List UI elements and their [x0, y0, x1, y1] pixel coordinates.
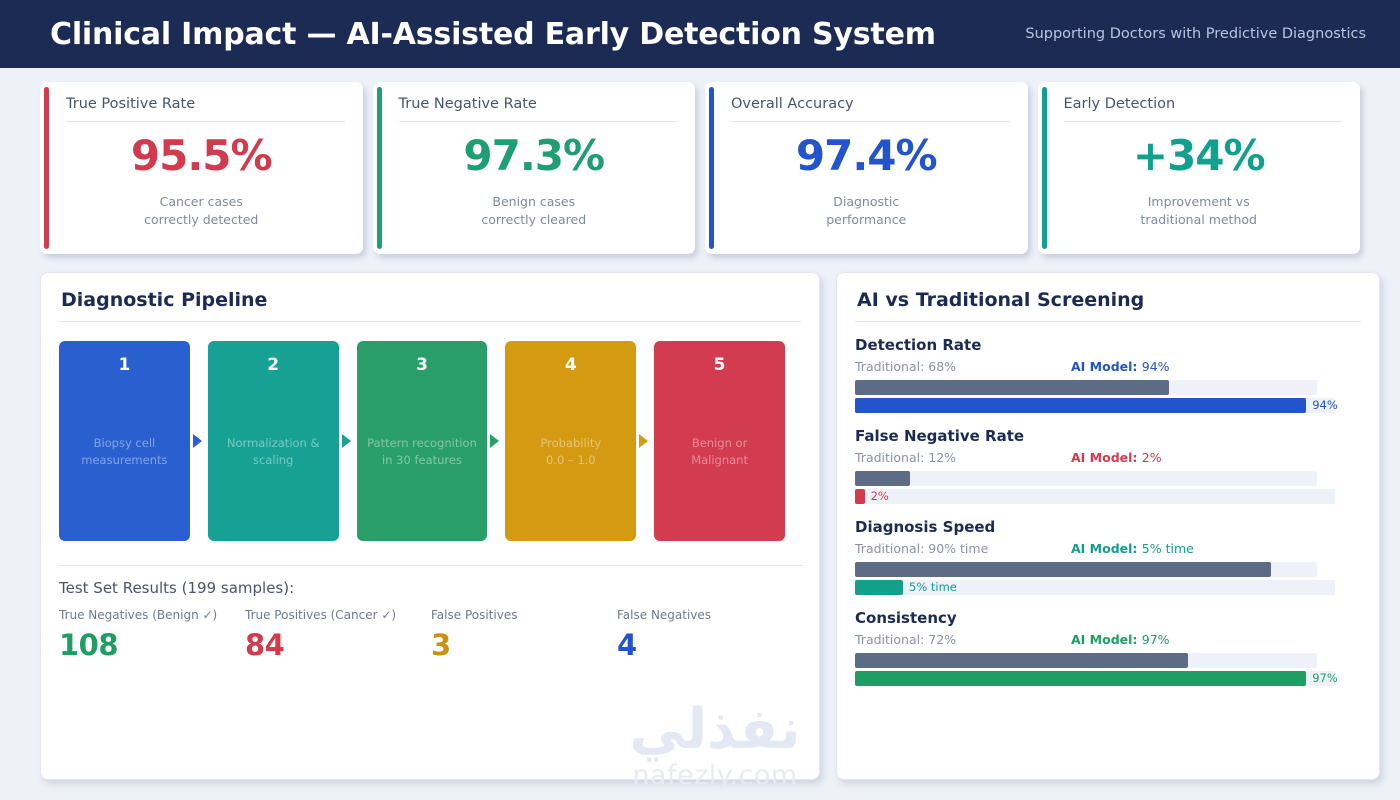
pipeline-stage[interactable]: 4Probability0.0 – 1.0 [505, 341, 636, 541]
pipeline-title-divider [59, 321, 801, 322]
kpi-description: Improvement vstraditional method [1056, 193, 1343, 229]
kpi-value: 97.3% [391, 131, 678, 180]
arrow-triangle [342, 434, 351, 448]
ai-bar-value-label: 97% [1306, 671, 1338, 686]
kpi-value: +34% [1056, 131, 1343, 180]
pipeline-stage-description: Probability0.0 – 1.0 [511, 435, 630, 468]
pipeline-stage[interactable]: 1Biopsy cellmeasurements [59, 341, 190, 541]
ai-bar-fill [855, 580, 903, 595]
pipeline-stage-number: 1 [118, 355, 130, 375]
arrow-triangle [193, 434, 202, 448]
result-item: False Positives3 [431, 608, 617, 662]
result-label: True Negatives (Benign ✓) [59, 608, 245, 622]
comparison-group: Detection RateTraditional: 68%AI Model: … [855, 336, 1351, 413]
traditional-bar-track [855, 380, 1317, 395]
ai-bar-track: 97% [855, 671, 1335, 686]
traditional-bar-fill [855, 380, 1169, 395]
result-value: 3 [431, 628, 617, 662]
kpi-accent-bar [44, 87, 49, 249]
pipeline-stage-number: 2 [267, 355, 279, 375]
comparison-group: False Negative RateTraditional: 12%AI Mo… [855, 427, 1351, 504]
ai-bar-track: 94% [855, 398, 1335, 413]
kpi-accent-bar [709, 87, 714, 249]
pipeline-stage[interactable]: 2Normalization &scaling [208, 341, 339, 541]
ai-bar-fill [855, 398, 1306, 413]
page-subtitle: Supporting Doctors with Predictive Diagn… [1025, 26, 1380, 42]
kpi-label: True Positive Rate [66, 96, 345, 122]
kpi-description: Diagnosticperformance [723, 193, 1010, 229]
pipeline-stage[interactable]: 5Benign orMalignant [654, 341, 785, 541]
pipeline-arrow-icon [339, 434, 357, 448]
pipeline-arrow-icon [487, 434, 505, 448]
ai-legend-value: 2% [1142, 450, 1162, 465]
ai-legend: AI Model: 2% [1071, 450, 1162, 465]
ai-bar-fill [855, 489, 865, 504]
traditional-bar-track [855, 562, 1317, 577]
comparison-group-title: False Negative Rate [855, 427, 1351, 445]
traditional-bar-track [855, 471, 1317, 486]
ai-bar-track: 2% [855, 489, 1335, 504]
traditional-legend: Traditional: 68% [855, 359, 956, 374]
kpi-description: Benign casescorrectly cleared [391, 193, 678, 229]
kpi-card: Overall Accuracy97.4%Diagnosticperforman… [705, 82, 1028, 254]
kpi-card: True Negative Rate97.3%Benign casescorre… [373, 82, 696, 254]
comparison-group-title: Consistency [855, 609, 1351, 627]
pipeline-stage-list: 1Biopsy cellmeasurements2Normalization &… [59, 341, 785, 541]
comparison-legend: Traditional: 72%AI Model: 97% [855, 632, 1351, 650]
result-item: False Negatives4 [617, 608, 803, 662]
traditional-legend: Traditional: 12% [855, 450, 956, 465]
ai-bar-fill [855, 671, 1306, 686]
result-label: True Positives (Cancer ✓) [245, 608, 431, 622]
result-item: True Positives (Cancer ✓)84 [245, 608, 431, 662]
ai-legend: AI Model: 94% [1071, 359, 1170, 374]
result-value: 4 [617, 628, 803, 662]
page-title: Clinical Impact — AI-Assisted Early Dete… [50, 17, 936, 52]
test-set-results-heading: Test Set Results (199 samples): [59, 579, 803, 597]
pipeline-panel-title: Diagnostic Pipeline [41, 273, 819, 321]
comparison-title-divider [855, 321, 1361, 322]
traditional-legend: Traditional: 90% time [855, 541, 988, 556]
test-set-results-grid: True Negatives (Benign ✓)108True Positiv… [59, 608, 803, 662]
kpi-value: 97.4% [723, 131, 1010, 180]
comparison-legend: Traditional: 90% timeAI Model: 5% time [855, 541, 1351, 559]
kpi-card-row: True Positive Rate95.5%Cancer casescorre… [40, 82, 1360, 254]
page-header: Clinical Impact — AI-Assisted Early Dete… [0, 0, 1400, 68]
ai-bar-value-label: 94% [1306, 398, 1338, 413]
result-item: True Negatives (Benign ✓)108 [59, 608, 245, 662]
pipeline-stage-description: Normalization &scaling [214, 435, 333, 468]
comparison-group-title: Diagnosis Speed [855, 518, 1351, 536]
pipeline-stage-number: 3 [416, 355, 428, 375]
comparison-legend: Traditional: 12%AI Model: 2% [855, 450, 1351, 468]
pipeline-stage-description: Benign orMalignant [660, 435, 779, 468]
pipeline-stage-number: 4 [565, 355, 577, 375]
traditional-bar-track [855, 653, 1317, 668]
comparison-group: ConsistencyTraditional: 72%AI Model: 97%… [855, 609, 1351, 686]
ai-legend-value: 5% time [1142, 541, 1194, 556]
kpi-accent-bar [1042, 87, 1047, 249]
kpi-value: 95.5% [58, 131, 345, 180]
ai-legend-value: 94% [1142, 359, 1170, 374]
pipeline-stage[interactable]: 3Pattern recognitionin 30 features [357, 341, 488, 541]
kpi-card: Early Detection+34%Improvement vstraditi… [1038, 82, 1361, 254]
traditional-bar-fill [855, 653, 1188, 668]
result-value: 84 [245, 628, 431, 662]
arrow-triangle [639, 434, 648, 448]
arrow-triangle [490, 434, 499, 448]
comparison-panel: AI vs Traditional Screening Detection Ra… [836, 272, 1380, 780]
kpi-card: True Positive Rate95.5%Cancer casescorre… [40, 82, 363, 254]
kpi-label: Overall Accuracy [731, 96, 1010, 122]
kpi-label: True Negative Rate [399, 96, 678, 122]
comparison-legend: Traditional: 68%AI Model: 94% [855, 359, 1351, 377]
traditional-bar-fill [855, 562, 1271, 577]
ai-bar-track: 5% time [855, 580, 1335, 595]
pipeline-arrow-icon [636, 434, 654, 448]
pipeline-stage-description: Pattern recognitionin 30 features [363, 435, 482, 468]
kpi-label: Early Detection [1064, 96, 1343, 122]
ai-legend: AI Model: 5% time [1071, 541, 1194, 556]
kpi-accent-bar [377, 87, 382, 249]
result-label: False Negatives [617, 608, 803, 622]
traditional-legend: Traditional: 72% [855, 632, 956, 647]
ai-legend: AI Model: 97% [1071, 632, 1170, 647]
diagnostic-pipeline-panel: Diagnostic Pipeline 1Biopsy cellmeasurem… [40, 272, 820, 780]
test-set-results: Test Set Results (199 samples): True Neg… [59, 565, 803, 662]
result-label: False Positives [431, 608, 617, 622]
comparison-group-list: Detection RateTraditional: 68%AI Model: … [855, 336, 1351, 686]
traditional-bar-fill [855, 471, 910, 486]
ai-bar-value-label: 2% [865, 489, 889, 504]
comparison-panel-title: AI vs Traditional Screening [837, 273, 1379, 321]
ai-bar-value-label: 5% time [903, 580, 957, 595]
pipeline-stage-description: Biopsy cellmeasurements [65, 435, 184, 468]
result-value: 108 [59, 628, 245, 662]
kpi-description: Cancer casescorrectly detected [58, 193, 345, 229]
dashboard-page: Clinical Impact — AI-Assisted Early Dete… [0, 0, 1400, 800]
pipeline-stage-number: 5 [714, 355, 726, 375]
ai-legend-value: 97% [1142, 632, 1170, 647]
comparison-group-title: Detection Rate [855, 336, 1351, 354]
pipeline-arrow-icon [190, 434, 208, 448]
comparison-group: Diagnosis SpeedTraditional: 90% timeAI M… [855, 518, 1351, 595]
